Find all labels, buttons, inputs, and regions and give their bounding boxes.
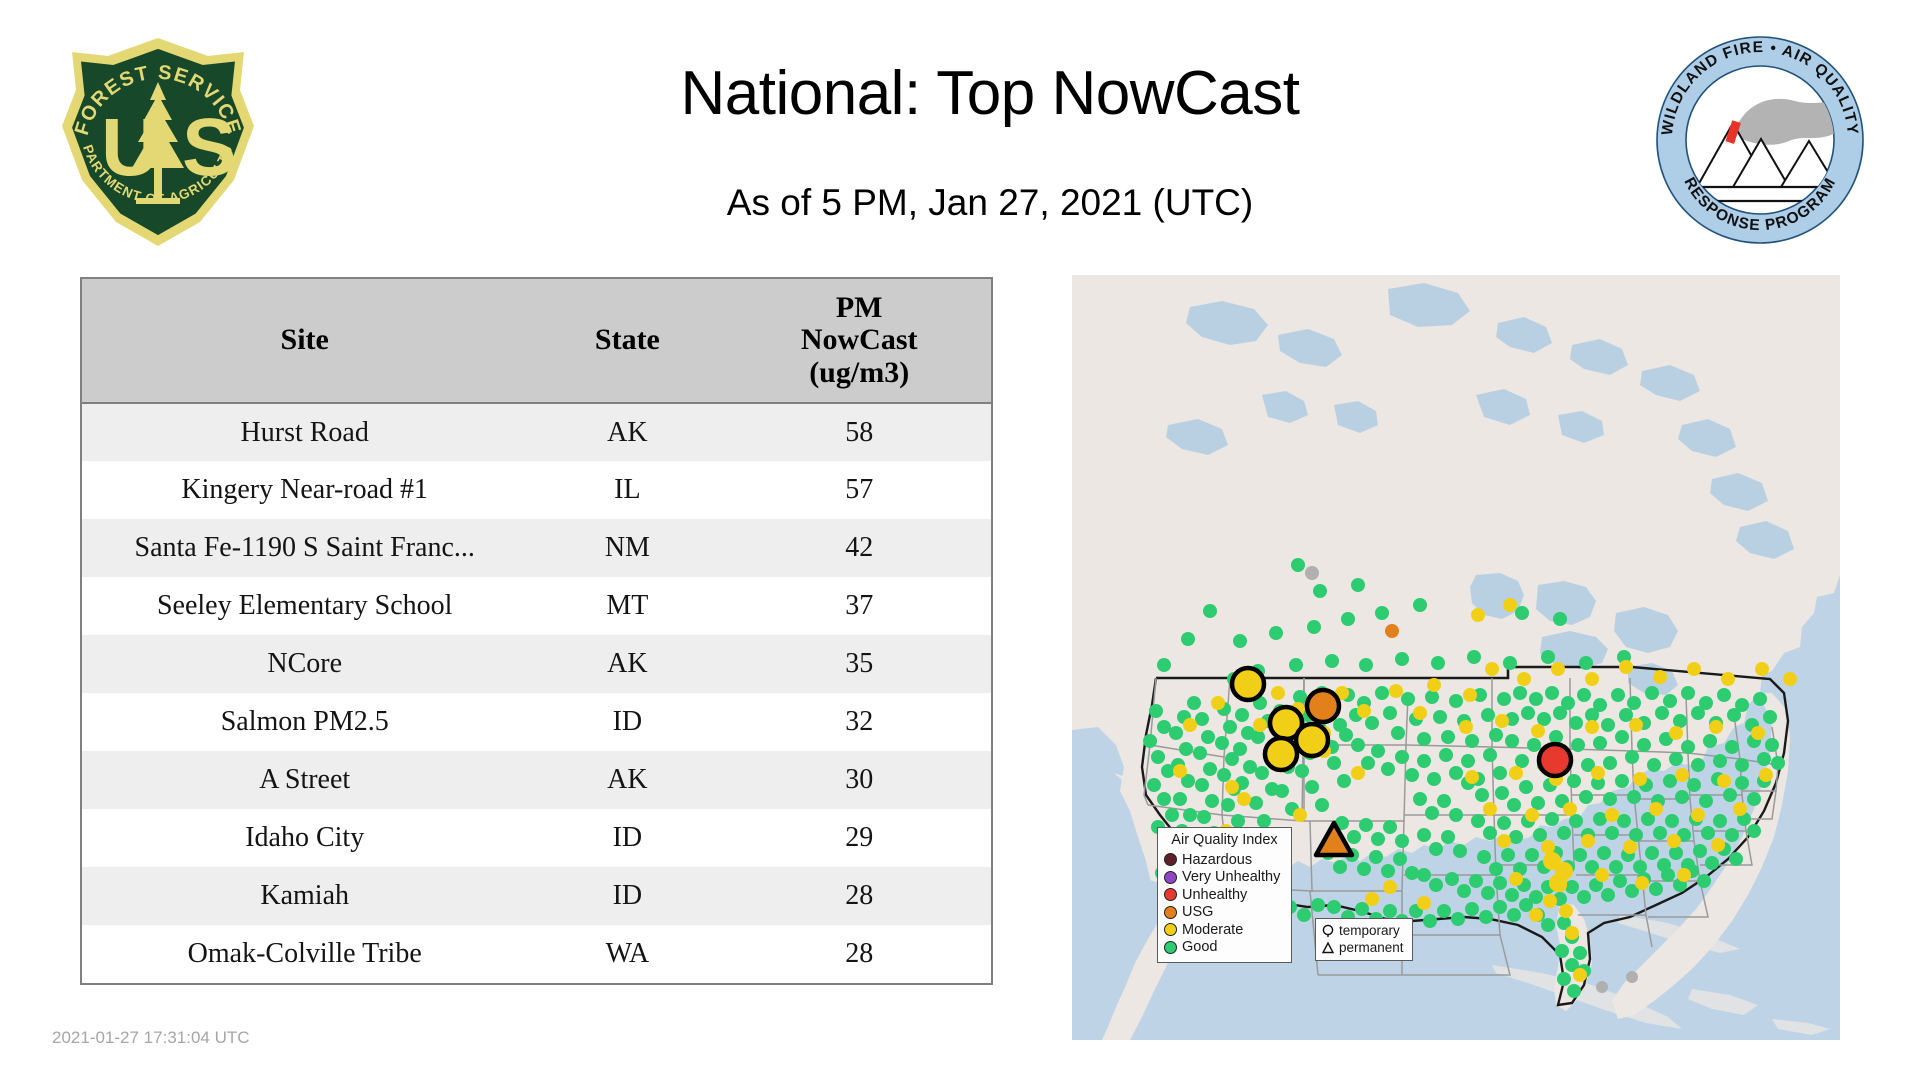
legend-label-unhealthy: Unhealthy bbox=[1182, 888, 1247, 903]
highlighted-marker-unhealthy-il bbox=[1539, 744, 1571, 776]
table-row[interactable]: A Street AK 30 bbox=[82, 751, 991, 809]
legend-label-good: Good bbox=[1182, 940, 1217, 955]
triangle-outline-icon bbox=[1321, 941, 1335, 955]
column-header-site-label: Site bbox=[281, 323, 329, 356]
legend-dot-hazardous bbox=[1164, 853, 1177, 866]
air-quality-monitor-map[interactable]: Air Quality Index Hazardous Very Unhealt… bbox=[1072, 275, 1840, 1040]
cell-state: MT bbox=[527, 577, 727, 635]
table-row[interactable]: Idaho City ID 29 bbox=[82, 809, 991, 867]
page-title: National: Top NowCast bbox=[340, 58, 1640, 129]
cell-site: Hurst Road bbox=[82, 403, 527, 461]
legend-label-hazardous: Hazardous bbox=[1182, 853, 1252, 868]
column-header-state[interactable]: State bbox=[527, 279, 727, 403]
legend-dot-unhealthy bbox=[1164, 888, 1177, 901]
monitor-dots-usg bbox=[1385, 624, 1399, 638]
column-header-site[interactable]: Site bbox=[82, 279, 527, 403]
legend-dot-moderate bbox=[1164, 923, 1177, 936]
table-row[interactable]: NCore AK 35 bbox=[82, 635, 991, 693]
cell-pm: 29 bbox=[727, 809, 991, 867]
legend-row-unhealthy: Unhealthy bbox=[1164, 886, 1285, 904]
highlighted-marker-moderate-id-2 bbox=[1296, 724, 1328, 756]
legend-label-usg: USG bbox=[1182, 905, 1213, 920]
legend-label-moderate: Moderate bbox=[1182, 923, 1243, 938]
cell-state: WA bbox=[527, 925, 727, 983]
legend-title: Air Quality Index bbox=[1164, 832, 1285, 848]
legend-dot-good bbox=[1164, 941, 1177, 954]
cell-site: Seeley Elementary School bbox=[82, 577, 527, 635]
cell-pm: 37 bbox=[727, 577, 991, 635]
table-row[interactable]: Kamiah ID 28 bbox=[82, 867, 991, 925]
cell-site: Idaho City bbox=[82, 809, 527, 867]
legend-row-moderate: Moderate bbox=[1164, 921, 1285, 939]
cell-pm: 28 bbox=[727, 925, 991, 983]
cell-site: NCore bbox=[82, 635, 527, 693]
cell-pm: 30 bbox=[727, 751, 991, 809]
table-row[interactable]: Hurst Road AK 58 bbox=[82, 403, 991, 461]
legend-row-very-unhealthy: Very Unhealthy bbox=[1164, 869, 1285, 887]
footer-timestamp: 2021-01-27 17:31:04 UTC bbox=[52, 1028, 250, 1048]
table-row[interactable]: Santa Fe-1190 S Saint Franc... NM 42 bbox=[82, 519, 991, 577]
legend-row-hazardous: Hazardous bbox=[1164, 851, 1285, 869]
column-header-state-label: State bbox=[595, 323, 660, 356]
cell-pm: 42 bbox=[727, 519, 991, 577]
table-header-row: Site State PM NowCast (ug/m3) bbox=[82, 279, 991, 403]
cell-site: A Street bbox=[82, 751, 527, 809]
legend-row-temporary: temporary bbox=[1321, 922, 1407, 939]
legend-label-temporary: temporary bbox=[1339, 923, 1400, 938]
legend-row-good: Good bbox=[1164, 939, 1285, 957]
pm-line-3: (ug/m3) bbox=[809, 356, 909, 389]
cell-pm: 32 bbox=[727, 693, 991, 751]
circle-outline-icon bbox=[1321, 924, 1335, 938]
cell-state: AK bbox=[527, 635, 727, 693]
highlighted-marker-usg-mt bbox=[1307, 690, 1339, 722]
column-header-pm-nowcast[interactable]: PM NowCast (ug/m3) bbox=[727, 279, 991, 403]
table-row[interactable]: Seeley Elementary School MT 37 bbox=[82, 577, 991, 635]
wfaqrp-logo: WILDLAND FIRE • AIR QUALITY RESPONSE PRO… bbox=[1655, 35, 1865, 245]
cell-pm: 57 bbox=[727, 461, 991, 519]
legend-row-permanent: permanent bbox=[1321, 939, 1407, 956]
cell-state: ID bbox=[527, 693, 727, 751]
map-legend-air-quality-index: Air Quality Index Hazardous Very Unhealt… bbox=[1157, 827, 1292, 963]
cell-state: NM bbox=[527, 519, 727, 577]
cell-state: AK bbox=[527, 751, 727, 809]
usda-forest-service-logo: FOREST SERVICE U S DEPARTMENT OF AGRICUL… bbox=[58, 30, 258, 250]
page-subtitle: As of 5 PM, Jan 27, 2021 (UTC) bbox=[340, 182, 1640, 224]
cell-state: ID bbox=[527, 809, 727, 867]
cell-pm: 28 bbox=[727, 867, 991, 925]
cell-pm: 35 bbox=[727, 635, 991, 693]
top-nowcast-table: Site State PM NowCast (ug/m3) Hurst Road… bbox=[80, 277, 993, 985]
cell-state: IL bbox=[527, 461, 727, 519]
pm-line-2: NowCast bbox=[801, 323, 918, 356]
cell-site: Kingery Near-road #1 bbox=[82, 461, 527, 519]
highlighted-marker-moderate-id-3 bbox=[1265, 738, 1297, 770]
legend-dot-usg bbox=[1164, 906, 1177, 919]
legend-row-usg: USG bbox=[1164, 904, 1285, 922]
pm-line-1: PM bbox=[836, 291, 883, 324]
map-legend-site-type: temporary permanent bbox=[1315, 918, 1413, 961]
cell-site: Salmon PM2.5 bbox=[82, 693, 527, 751]
legend-dot-very-unhealthy bbox=[1164, 871, 1177, 884]
cell-site: Omak-Colville Tribe bbox=[82, 925, 527, 983]
table-row[interactable]: Kingery Near-road #1 IL 57 bbox=[82, 461, 991, 519]
cell-site: Kamiah bbox=[82, 867, 527, 925]
cell-site: Santa Fe-1190 S Saint Franc... bbox=[82, 519, 527, 577]
legend-label-very-unhealthy: Very Unhealthy bbox=[1182, 870, 1280, 885]
legend-label-permanent: permanent bbox=[1339, 940, 1404, 955]
table-row[interactable]: Salmon PM2.5 ID 32 bbox=[82, 693, 991, 751]
highlighted-marker-moderate-wa bbox=[1232, 668, 1264, 700]
cell-state: AK bbox=[527, 403, 727, 461]
cell-pm: 58 bbox=[727, 403, 991, 461]
cell-state: ID bbox=[527, 867, 727, 925]
table-row[interactable]: Omak-Colville Tribe WA 28 bbox=[82, 925, 991, 983]
